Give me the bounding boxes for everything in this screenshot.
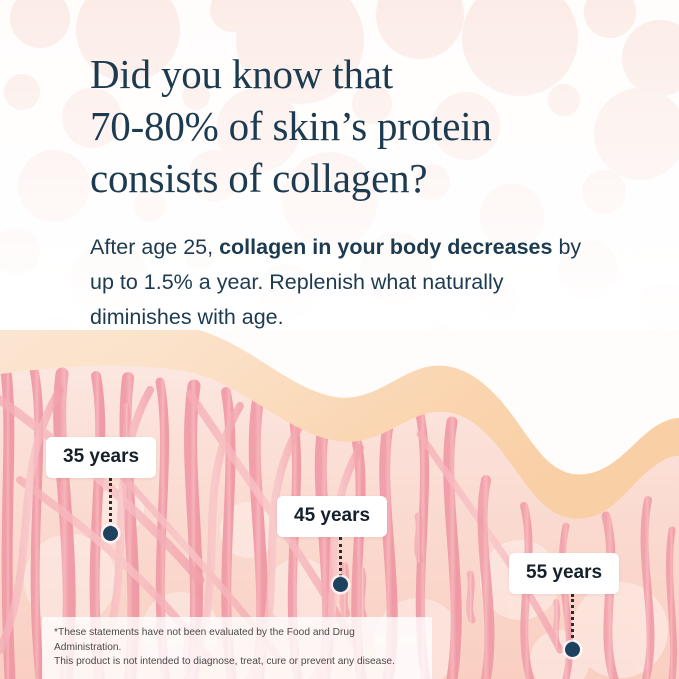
subcopy-paragraph: After age 25, collagen in your body decr… xyxy=(90,230,590,335)
disclaimer-footnote: *These statements have not been evaluate… xyxy=(42,617,432,679)
infographic-canvas: Did you know that 70-80% of skin’s prote… xyxy=(0,0,679,679)
age-label-55[interactable]: 55 years xyxy=(509,553,619,594)
age-label-35[interactable]: 35 years xyxy=(46,437,156,478)
leader-line-55 xyxy=(571,594,574,649)
subcopy-part-1: After age 25, xyxy=(90,235,219,259)
age-dot-45[interactable] xyxy=(333,577,348,592)
age-dot-35[interactable] xyxy=(103,526,118,541)
subcopy-bold-1: collagen in your body decreases xyxy=(219,235,552,259)
age-label-45[interactable]: 45 years xyxy=(277,496,387,537)
age-dot-55[interactable] xyxy=(565,642,580,657)
copy-block: Did you know that 70-80% of skin’s prote… xyxy=(90,48,630,335)
leader-line-35 xyxy=(109,478,112,533)
page-title: Did you know that 70-80% of skin’s prote… xyxy=(90,48,630,204)
